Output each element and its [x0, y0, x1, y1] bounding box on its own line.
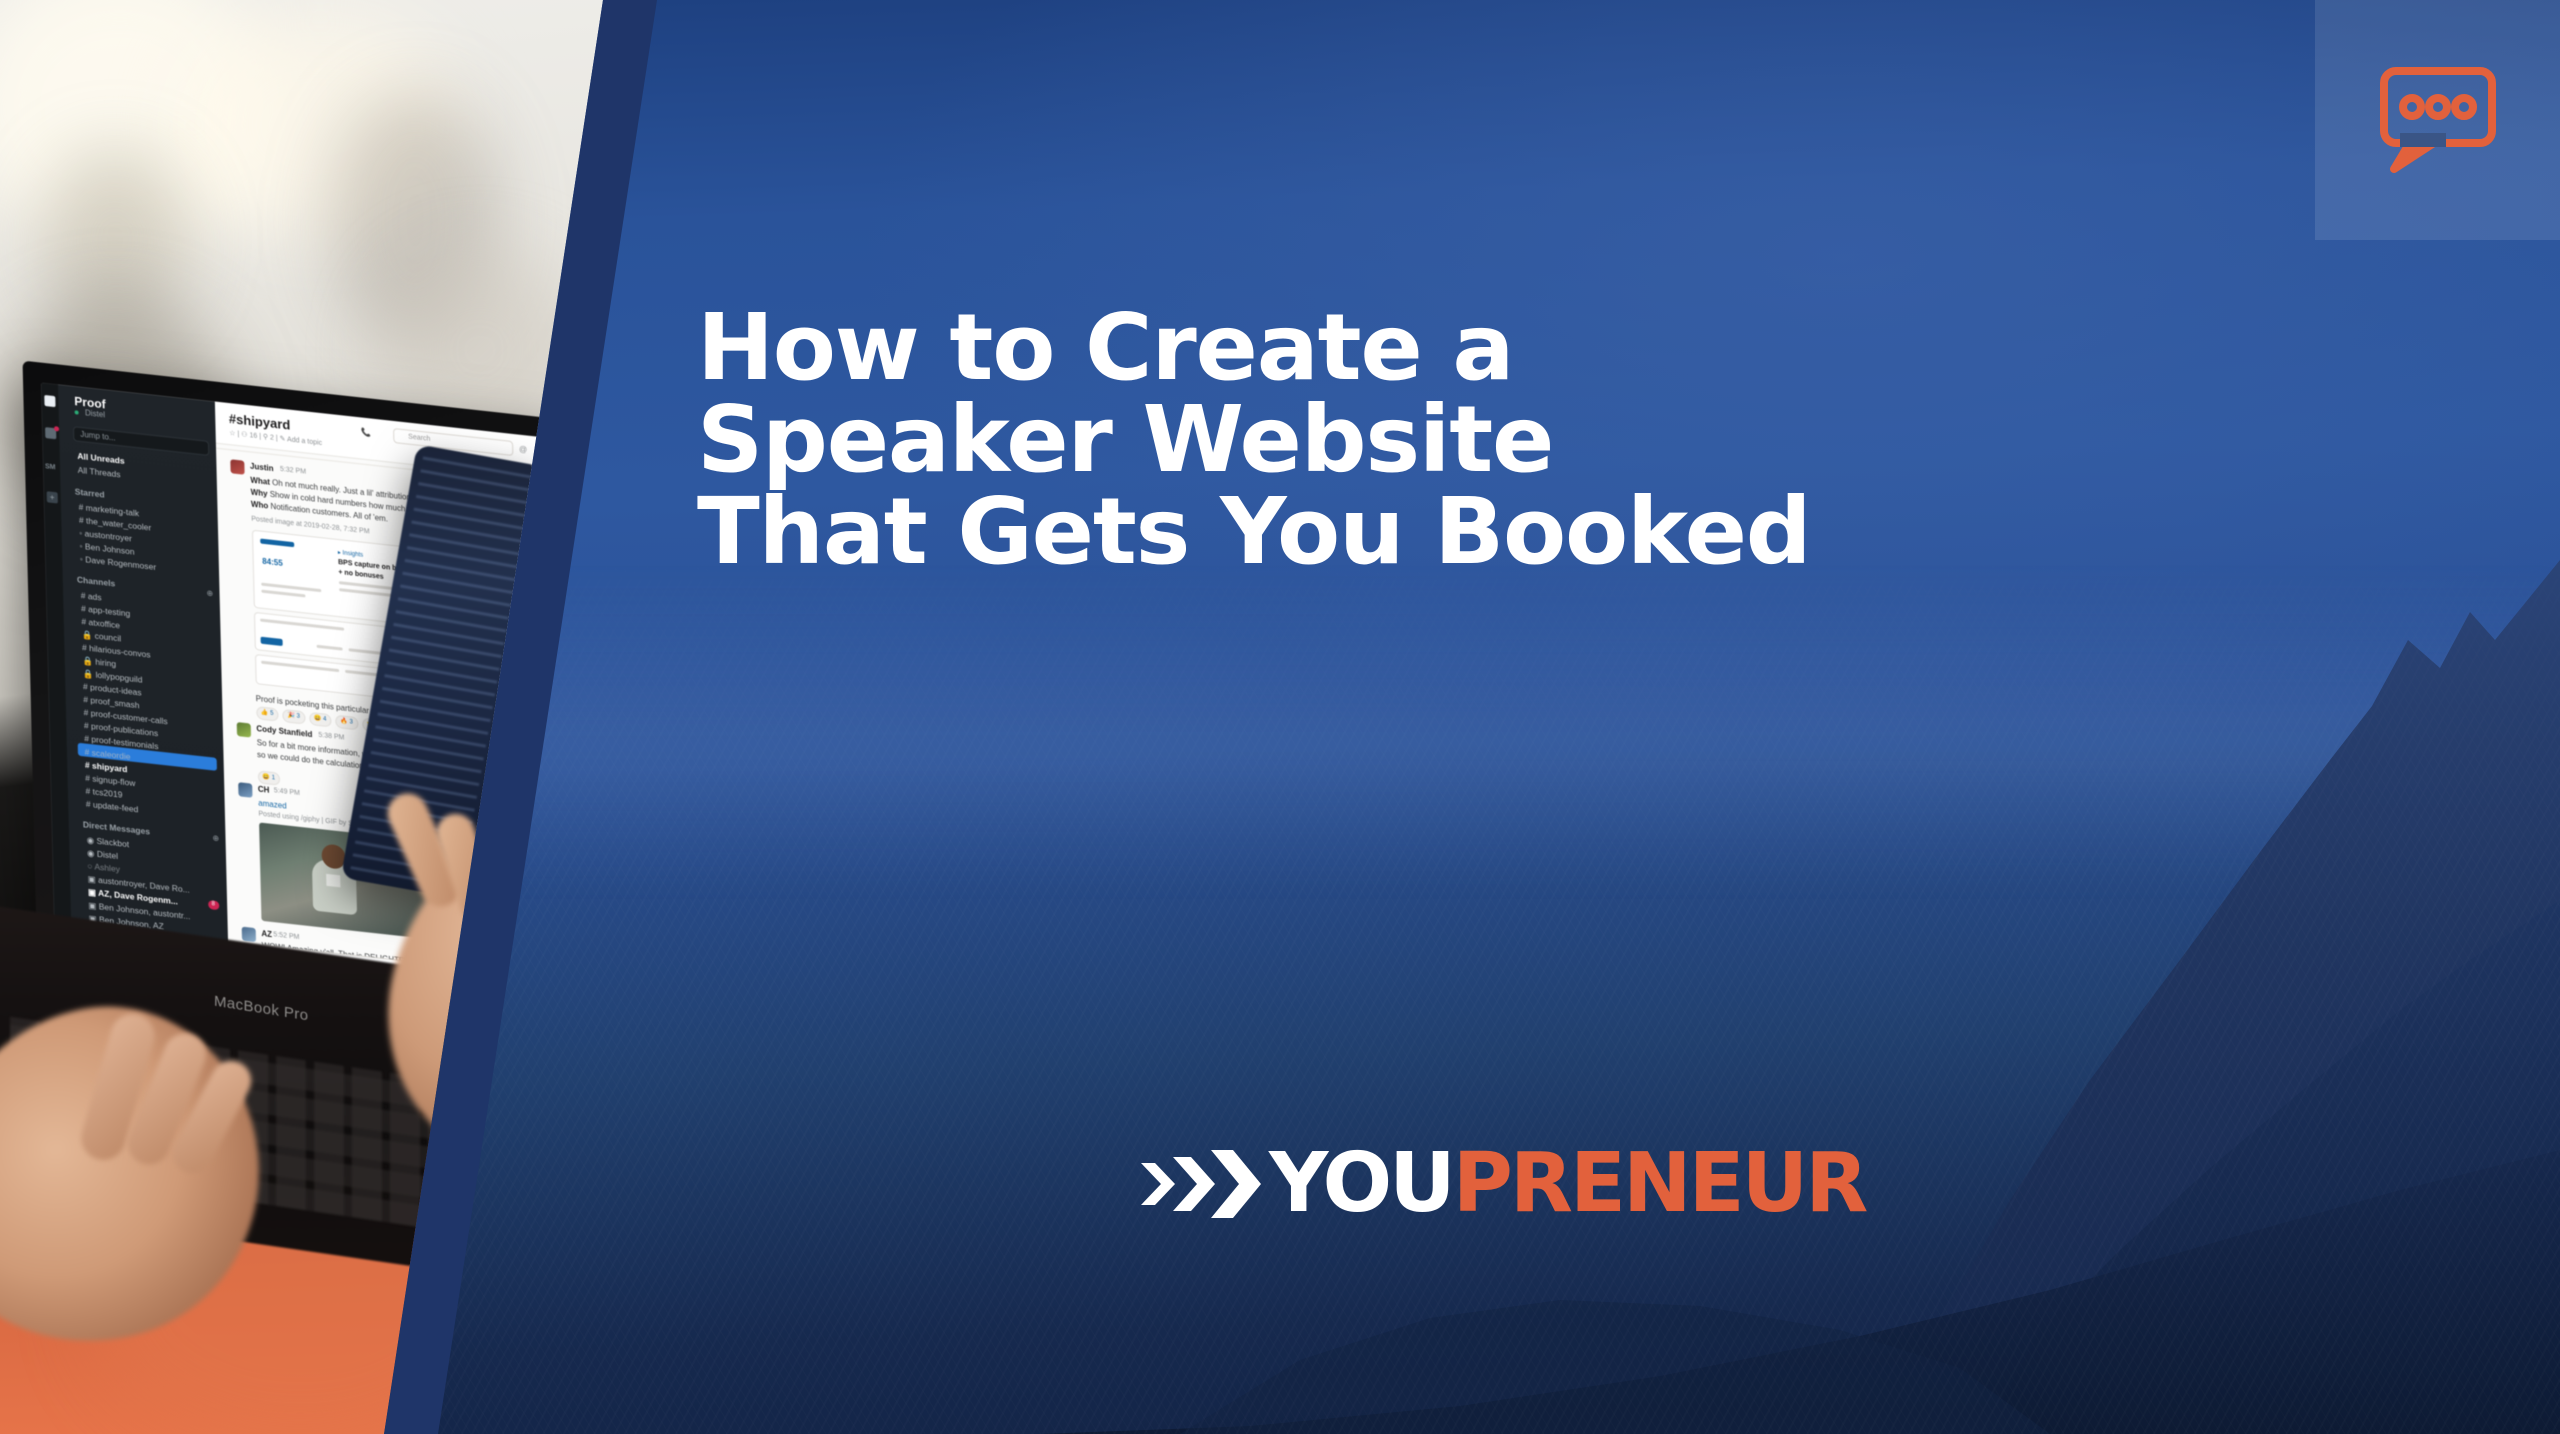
slack-channel-item[interactable]: 🔒 hiring [82, 655, 116, 670]
slack-channel-item-active[interactable]: # shipyard [85, 759, 128, 774]
avatar[interactable] [238, 782, 252, 798]
presence-dot [75, 410, 79, 414]
avatar[interactable] [241, 927, 255, 943]
add-workspace-button[interactable]: + [47, 491, 58, 503]
triple-chevron-right-icon [1139, 1147, 1265, 1221]
headline-line-1: How to Create a [697, 302, 2547, 394]
dm-unread-badge: 8 [208, 900, 219, 910]
speech-bubble-ellipsis-icon [2378, 65, 2498, 175]
slack-section-starred: Starred [75, 486, 105, 499]
mentions-icon[interactable]: @ [519, 445, 527, 455]
corner-icon-panel [2315, 0, 2560, 240]
slack-channel-item[interactable]: # ads [81, 590, 102, 602]
headline-line-3: That Gets You Booked [697, 486, 2547, 578]
message-author[interactable]: CH [258, 784, 270, 794]
message-time: 5:49 PM [274, 787, 300, 797]
page-title: How to Create a Speaker Website That Get… [697, 302, 2547, 578]
message-author[interactable]: Cody Stanfield [256, 724, 312, 739]
message-time: 5:32 PM [280, 466, 306, 476]
slack-user-status: Distel [85, 408, 105, 419]
message-author[interactable]: AZ [261, 929, 272, 939]
slack-section-channels: Channels [77, 575, 115, 589]
message-body: amazed [258, 798, 287, 810]
headline-line-2: Speaker Website [697, 394, 2547, 486]
youpreneur-logo[interactable]: YOUPRENEUR [1139, 1128, 1865, 1240]
avatar[interactable] [230, 459, 244, 475]
message-author[interactable]: Justin [250, 461, 274, 473]
slack-dm-item[interactable]: ○ Ashley [87, 861, 120, 875]
workspace-initials: SM [45, 463, 56, 471]
slack-section-dms: Direct Messages [83, 819, 150, 836]
workspace-unread-dot [54, 426, 59, 432]
slack-channel-item[interactable]: # atxoffice [81, 616, 120, 630]
slack-channel-item[interactable]: # update-feed [86, 799, 139, 815]
add-channel-icon[interactable]: ⊕ [206, 589, 213, 599]
slack-nav-all-threads[interactable]: All Threads [78, 465, 121, 480]
logo-text-preneur: PRENEUR [1453, 1136, 1866, 1231]
slack-nav-all-unreads[interactable]: All Unreads [77, 451, 124, 466]
message-reactions[interactable]: 😄 1 [257, 764, 280, 786]
call-icon[interactable]: 📞 [361, 427, 371, 437]
slack-sidebar: SM + Proof Distel Jump to... All Unreads… [41, 383, 229, 978]
message-time: 5:52 PM [273, 931, 299, 941]
workspace-icon[interactable] [44, 395, 55, 407]
add-dm-icon[interactable]: ⊕ [212, 833, 219, 843]
blog-header-banner: SM + Proof Distel Jump to... All Unreads… [0, 0, 2560, 1434]
message-time: 5:38 PM [318, 732, 344, 742]
logo-text-you: YOU [1269, 1136, 1453, 1231]
slack-channel-item[interactable]: # tcs2019 [85, 786, 122, 800]
slack-dm-item[interactable]: ◦ Dave Rogenmoser [80, 554, 156, 572]
slack-workspace-rail: SM + [41, 383, 72, 961]
slack-dm-item[interactable]: ◉ Distel [87, 848, 118, 862]
avatar[interactable] [236, 722, 250, 738]
